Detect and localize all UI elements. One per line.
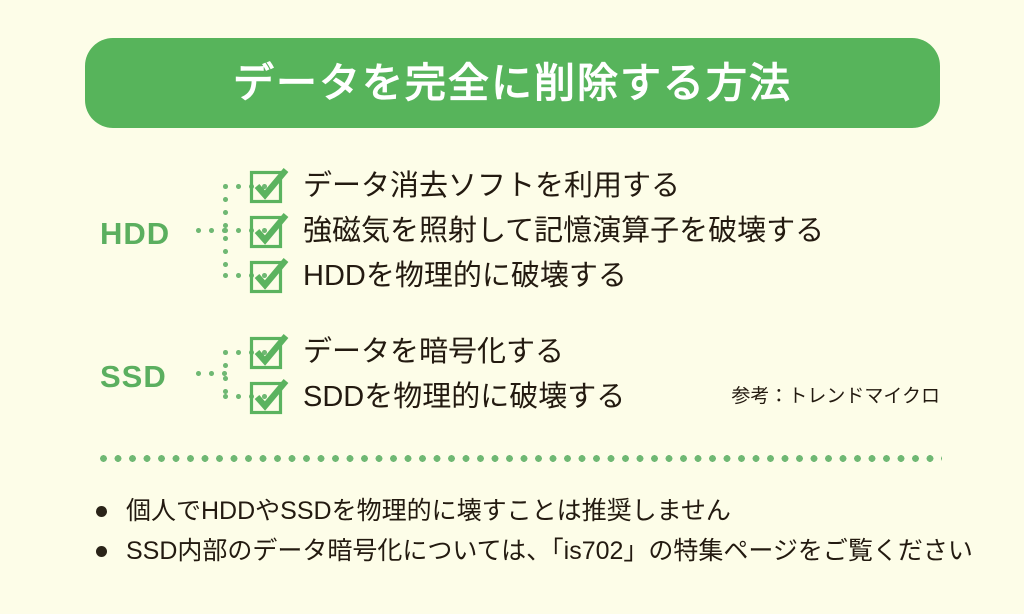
connector-spine-icon	[223, 350, 228, 398]
list-item-label: HDDを物理的に破壊する	[303, 262, 627, 291]
source-attribution: 参考：トレンドマイクロ	[731, 387, 940, 406]
checkbox-checked-icon[interactable]	[249, 379, 285, 415]
note-item: SSD内部のデータ暗号化については、「is702」の特集ページをご覧ください	[96, 536, 996, 567]
list-item[interactable]: 強磁気を照射して記憶演算子を破壊する	[249, 211, 824, 251]
dotted-divider	[100, 455, 942, 462]
note-text: SSD内部のデータ暗号化については、「is702」の特集ページをご覧ください	[126, 536, 973, 567]
checkbox-checked-icon[interactable]	[249, 168, 285, 204]
infographic-canvas: データを完全に削除する方法 HDD データ消去ソフトを利用する	[0, 0, 1024, 614]
page-title: データを完全に削除する方法	[233, 63, 792, 104]
group-label-hdd: HDD	[100, 218, 192, 249]
list-item-label: 強磁気を照射して記憶演算子を破壊する	[303, 217, 824, 246]
group-ssd: SSD データを暗号化する SDDを物理的に破壊	[0, 326, 1024, 426]
note-text: 個人でHDDやSSDを物理的に壊すことは推奨しません	[126, 496, 731, 527]
footer-notes: 個人でHDDやSSDを物理的に壊すことは推奨しません SSD内部のデータ暗号化に…	[96, 496, 996, 577]
title-banner: データを完全に削除する方法	[85, 38, 940, 128]
connector-stem-icon	[196, 371, 234, 376]
list-item[interactable]: データを暗号化する	[249, 332, 564, 372]
group-hdd: HDD データ消去ソフトを利用する	[0, 160, 1024, 305]
checkbox-checked-icon[interactable]	[249, 258, 285, 294]
note-item: 個人でHDDやSSDを物理的に壊すことは推奨しません	[96, 496, 996, 527]
list-item[interactable]: HDDを物理的に破壊する	[249, 256, 627, 296]
list-item-label: データを暗号化する	[303, 338, 564, 367]
list-item[interactable]: データ消去ソフトを利用する	[249, 166, 680, 206]
checkbox-checked-icon[interactable]	[249, 213, 285, 249]
bullet-dot-icon	[96, 546, 107, 557]
list-item[interactable]: SDDを物理的に破壊する	[249, 377, 625, 417]
list-item-label: データ消去ソフトを利用する	[303, 172, 680, 201]
bullet-dot-icon	[96, 506, 107, 517]
checkbox-checked-icon[interactable]	[249, 334, 285, 370]
group-label-ssd: SSD	[100, 361, 192, 392]
list-item-label: SDDを物理的に破壊する	[303, 383, 625, 412]
